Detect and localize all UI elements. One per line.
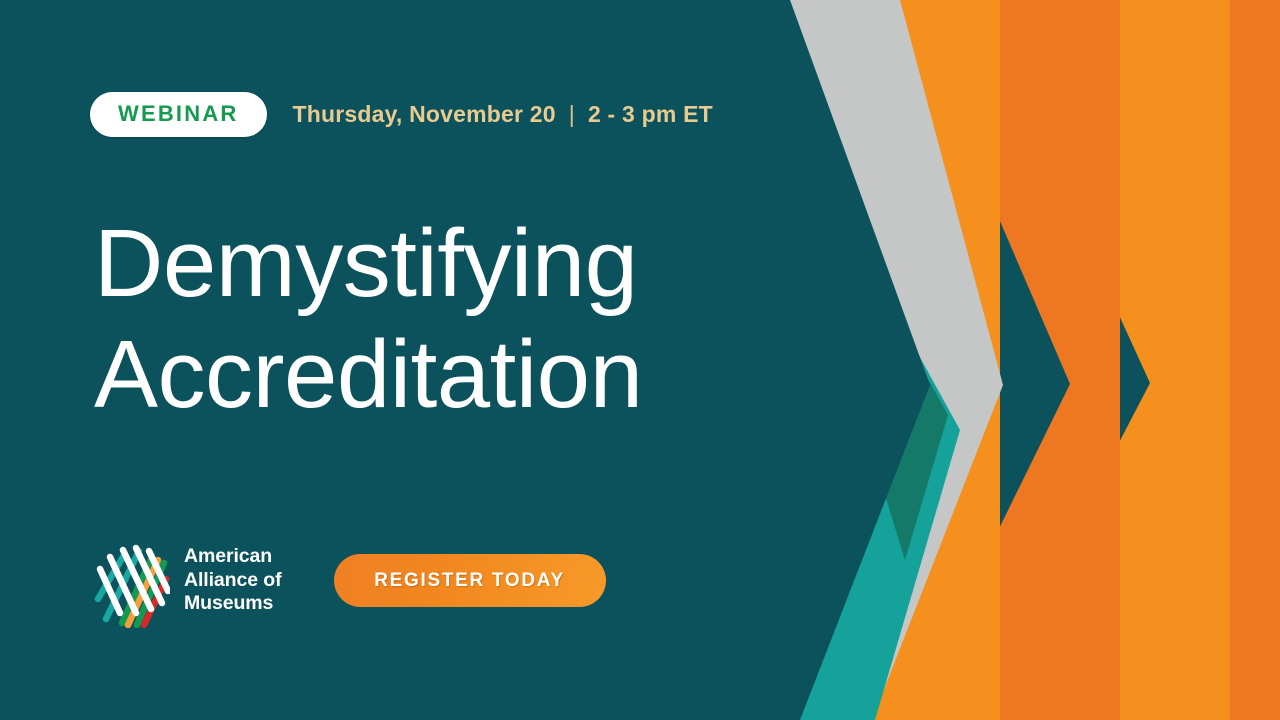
- schedule-line: Thursday, November 20 | 2 - 3 pm ET: [293, 101, 713, 128]
- teal-chevron: [795, 330, 960, 720]
- page-title-line-1: Demystifying: [94, 208, 714, 319]
- webinar-badge: WEBINAR: [90, 92, 267, 137]
- aam-wordmark-line-3: Museums: [184, 592, 282, 616]
- aam-wordmark-line-1: American: [184, 545, 282, 569]
- orange-chevron-3: [975, 0, 1230, 720]
- badge-row: WEBINAR Thursday, November 20 | 2 - 3 pm…: [90, 92, 713, 137]
- aam-logo-mark-icon: [92, 533, 170, 628]
- page-title-line-2: Accreditation: [94, 319, 714, 430]
- schedule-time: 2 - 3 pm ET: [588, 101, 713, 128]
- orange-chevron-2: [905, 0, 1120, 720]
- green-chevron: [862, 310, 948, 560]
- schedule-date: Thursday, November 20: [293, 101, 556, 128]
- orange-chevron-5: [1120, 0, 1280, 720]
- orange-chevron-4: [1060, 0, 1280, 720]
- aam-logo: American Alliance of Museums: [92, 533, 282, 628]
- footer-row: American Alliance of Museums REGISTER TO…: [92, 533, 606, 628]
- register-today-button[interactable]: REGISTER TODAY: [334, 554, 606, 607]
- webinar-promo-banner: WEBINAR Thursday, November 20 | 2 - 3 pm…: [0, 0, 1280, 720]
- schedule-separator: |: [569, 101, 575, 128]
- aam-wordmark: American Alliance of Museums: [184, 545, 282, 616]
- orange-chevron-1: [848, 0, 1000, 720]
- aam-wordmark-line-2: Alliance of: [184, 569, 282, 593]
- webinar-badge-label: WEBINAR: [118, 103, 239, 125]
- page-title: Demystifying Accreditation: [94, 208, 714, 431]
- gray-chevron: [762, 0, 1003, 720]
